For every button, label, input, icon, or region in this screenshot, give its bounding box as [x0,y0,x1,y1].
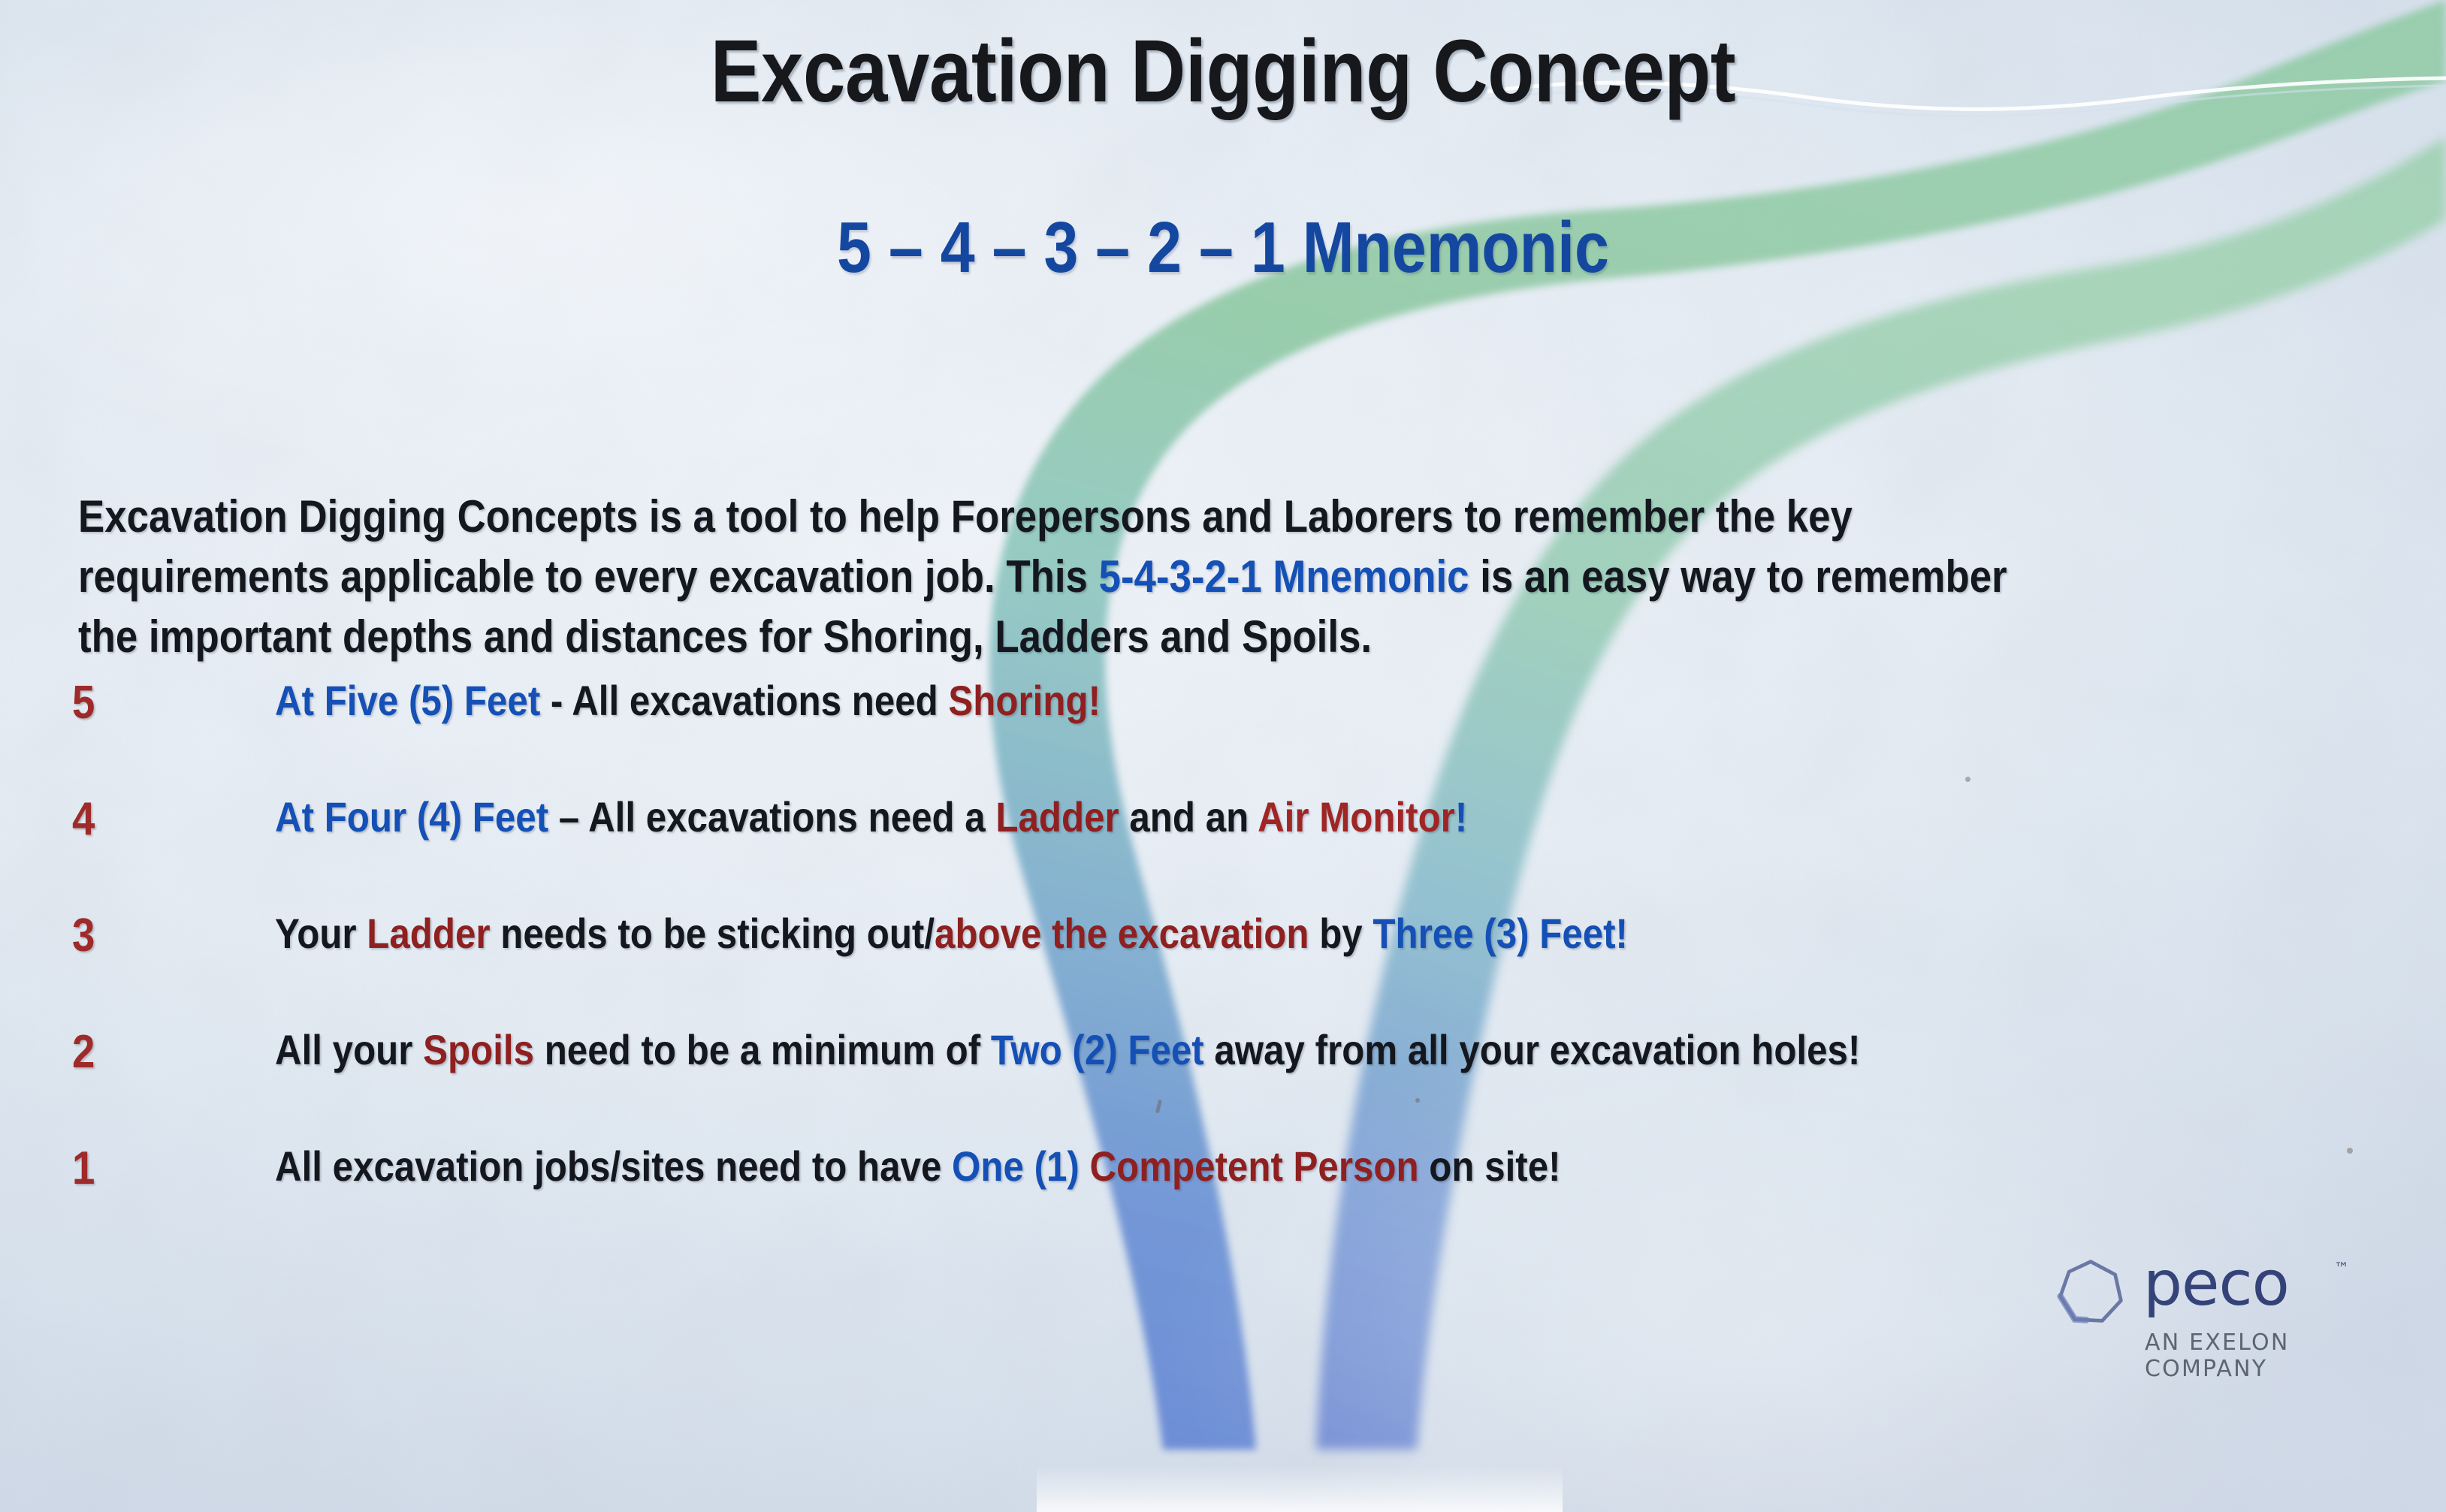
rule-text-segment: – All excavations need a [548,793,995,841]
mnemonic-rules-list: 5At Five (5) Feet - All excavations need… [0,676,2446,1258]
rule-text-1: All excavation jobs/sites need to have O… [275,1142,1561,1191]
rule-text-segment: and an [1119,793,1258,841]
rule-text-segment: Competent Person [1090,1142,1419,1190]
rule-text-segment: away from all your excavation holes! [1204,1026,1861,1073]
rule-text-3: Your Ladder needs to be sticking out/abo… [275,909,1628,958]
mnemonic-rule-row: 1All excavation jobs/sites need to have … [0,1142,2446,1258]
rule-text-segment: Shoring! [948,677,1101,724]
mnemonic-rule-row: 5At Five (5) Feet - All excavations need… [0,676,2446,792]
rule-text-segment: All your [275,1026,423,1073]
rule-text-segment: on site! [1419,1142,1561,1190]
rule-text-segment: needs to be sticking out/ [491,910,935,957]
laminated-safety-poster: Excavation Digging Concept 5 – 4 – 3 – 2… [0,0,2446,1512]
rule-text-segment: - All excavations need [540,677,948,724]
rule-text-segment: Spoils [423,1026,534,1073]
intro-paragraph: Excavation Digging Concepts is a tool to… [78,487,2061,666]
intro-mnemonic-highlight: 5-4-3-2-1 Mnemonic [1099,551,1469,602]
peco-tagline: AN EXELON COMPANY [2145,1329,2370,1382]
peco-logo: peco ™ AN EXELON COMPANY [2055,1247,2370,1382]
rule-text-segment: One (1) [952,1142,1089,1190]
rule-text-segment: Ladder [367,910,490,957]
page-title: Excavation Digging Concept [171,26,2275,119]
rule-text-segment: need to be a minimum of [534,1026,991,1073]
page-subtitle: 5 – 4 – 3 – 2 – 1 Mnemonic [171,210,2275,286]
rule-text-segment: Air Monitor [1258,793,1455,841]
rule-text-segment: At Five (5) Feet [275,677,540,724]
rule-number-1: 1 [72,1142,119,1195]
rule-text-segment: Ladder [995,793,1119,841]
rule-text-segment: Three (3) Feet! [1372,910,1628,957]
peco-hexagon-mark-icon [2055,1256,2127,1328]
mnemonic-rule-row: 2All your Spoils need to be a minimum of… [0,1025,2446,1142]
rule-text-segment: above the excavation [935,910,1309,957]
rule-text-segment: Two (2) Feet [991,1026,1204,1073]
rule-text-5: At Five (5) Feet - All excavations need … [275,676,1101,725]
peco-wordmark: peco [2143,1248,2289,1320]
rule-text-segment: All excavation jobs/sites need to have [275,1142,952,1190]
rule-text-segment: At Four (4) Feet [275,793,548,841]
rule-number-4: 4 [72,792,119,846]
rule-number-3: 3 [72,909,119,962]
rule-number-5: 5 [72,676,119,729]
rule-text-segment: Your [275,910,367,957]
mnemonic-rule-row: 3Your Ladder needs to be sticking out/ab… [0,909,2446,1025]
rule-text-2: All your Spoils need to be a minimum of … [275,1025,1860,1074]
rule-text-segment: by [1309,910,1373,957]
mnemonic-rule-row: 4At Four (4) Feet – All excavations need… [0,792,2446,909]
rule-number-2: 2 [72,1025,119,1079]
rule-text-segment: ! [1455,793,1467,841]
peco-trademark-symbol: ™ [2334,1259,2349,1277]
rule-text-4: At Four (4) Feet – All excavations need … [275,792,1467,841]
